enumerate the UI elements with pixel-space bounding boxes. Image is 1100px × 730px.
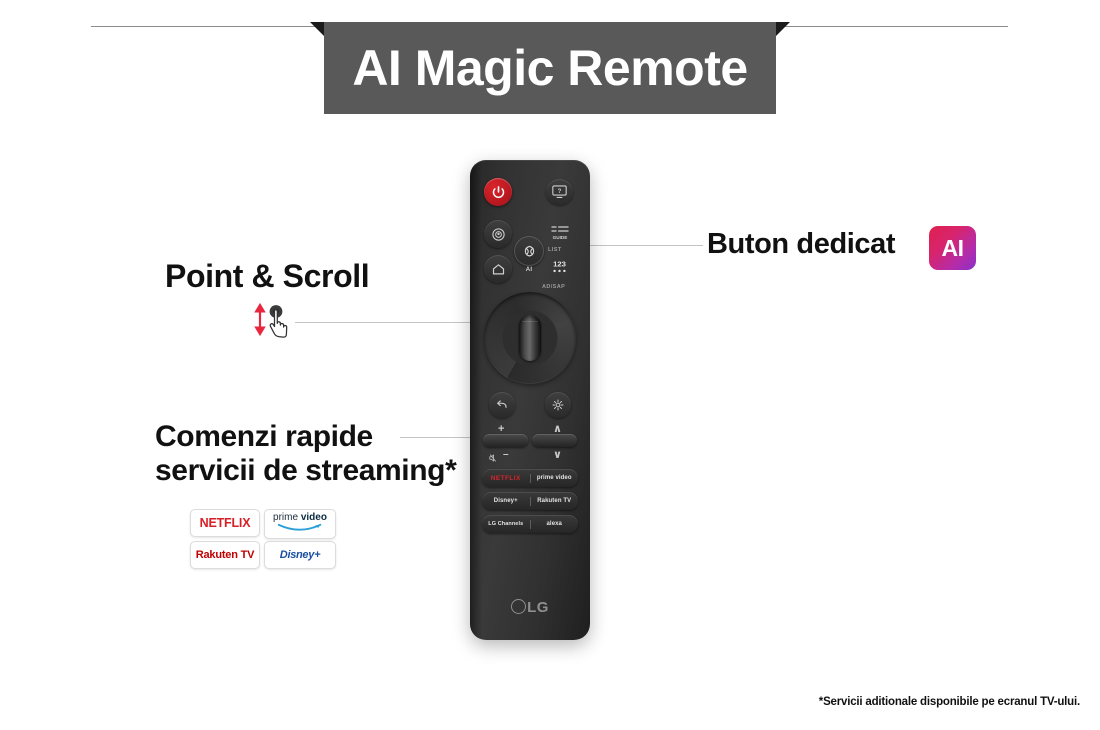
shortcut-alexa[interactable]: alexa	[531, 515, 579, 533]
guide-label: GUIDE	[552, 235, 567, 240]
poster-stage: AI Magic Remote Point & Scroll Buton ded…	[0, 0, 1100, 730]
logo-card-netflix: NETFLIX	[190, 509, 260, 537]
logo-card-rakuten-tv: Rakuten TV	[190, 541, 260, 569]
header-banner: AI Magic Remote	[324, 22, 776, 114]
lg-logo-text: LG	[527, 599, 549, 616]
magic-remote: ? GUIDE	[470, 160, 590, 640]
footnote: *Servicii aditionale disponibile pe ecra…	[819, 696, 1080, 708]
shortcut-row-1: NETFLIX prime video	[482, 469, 578, 487]
gear-icon	[551, 398, 565, 412]
ai-button-label: AI	[514, 267, 544, 273]
ai-swirl-icon	[520, 242, 539, 261]
lg-logo-circle	[511, 599, 526, 614]
callout-fast-commands-line2: servicii de streaming*	[155, 454, 456, 488]
settings-button[interactable]	[545, 392, 571, 418]
back-arrow-icon	[495, 398, 509, 412]
leader-line-point-scroll	[295, 322, 485, 323]
ai-button[interactable]	[514, 236, 544, 266]
svg-text:?: ?	[558, 189, 562, 195]
home-button[interactable]	[484, 255, 512, 283]
banner-fold-left	[310, 22, 324, 36]
svg-text:123: 123	[553, 260, 566, 269]
callout-fast-commands-line1: Comenzi rapide	[155, 420, 456, 454]
prime-video-logo: prime video	[273, 513, 327, 536]
callout-point-scroll: Point & Scroll	[165, 258, 369, 295]
volume-rocker[interactable]	[483, 434, 528, 447]
rakuten-tv-logo: Rakuten TV	[196, 549, 255, 561]
shortcut-disney-plus-label: Disney+	[494, 498, 518, 504]
disney-plus-logo: Disney+	[280, 549, 320, 561]
callout-fast-commands: Comenzi rapide servicii de streaming*	[155, 420, 456, 488]
shortcut-prime-video[interactable]: prime video	[531, 469, 579, 487]
shortcut-rakuten-tv-label: Rakuten TV	[537, 498, 571, 504]
back-button[interactable]	[489, 392, 515, 418]
lg-logo: LG	[470, 597, 590, 616]
shortcut-row-2: Disney+ Rakuten TV	[482, 492, 578, 510]
amazon-smile-icon	[277, 523, 323, 532]
logo-card-prime-video: prime video	[264, 509, 336, 539]
logo-card-disney-plus: Disney+	[264, 541, 336, 569]
guide-icon: GUIDE	[550, 224, 570, 242]
volume-down-symbol: –	[503, 450, 509, 460]
shortcut-row-3: LG Channels alexa	[482, 515, 578, 533]
shortcut-disney-plus[interactable]: Disney+	[482, 492, 530, 510]
shortcut-lg-channels[interactable]: LG Channels	[482, 515, 530, 533]
channel-rocker[interactable]	[532, 434, 577, 447]
power-icon	[491, 185, 506, 200]
shortcut-prime-video-label: prime video	[537, 475, 572, 481]
power-button[interactable]	[484, 178, 512, 206]
ai-badge-label: AI	[942, 235, 964, 262]
point-scroll-hand-icon	[252, 302, 296, 346]
shortcut-netflix-label: NETFLIX	[491, 475, 521, 482]
shortcut-lg-channels-label: LG Channels	[488, 521, 523, 527]
ai-badge: AI	[929, 226, 976, 270]
tv-question-button[interactable]: ?	[546, 179, 573, 205]
shortcut-netflix[interactable]: NETFLIX	[482, 469, 530, 487]
numbers-icon: 123	[549, 259, 570, 278]
banner-fold-right	[776, 22, 790, 36]
guide-button[interactable]: GUIDE	[545, 220, 574, 246]
channel-down-symbol: ∨	[553, 450, 562, 461]
adsap-label: AD/SAP	[542, 284, 565, 290]
callout-dedicated-button: Buton dedicat	[707, 228, 895, 261]
mic-button[interactable]	[484, 220, 512, 248]
netflix-logo: NETFLIX	[200, 516, 251, 530]
list-label: LIST	[548, 247, 562, 253]
home-icon	[491, 262, 506, 277]
mic-circle-icon	[491, 227, 506, 242]
mute-icon	[489, 450, 499, 460]
page-title: AI Magic Remote	[352, 43, 747, 93]
shortcut-rakuten-tv[interactable]: Rakuten TV	[531, 492, 579, 510]
scroll-wheel[interactable]	[519, 315, 541, 361]
tv-question-icon: ?	[551, 184, 568, 200]
numbers-button[interactable]: 123	[545, 255, 574, 282]
shortcut-alexa-label: alexa	[546, 521, 562, 527]
